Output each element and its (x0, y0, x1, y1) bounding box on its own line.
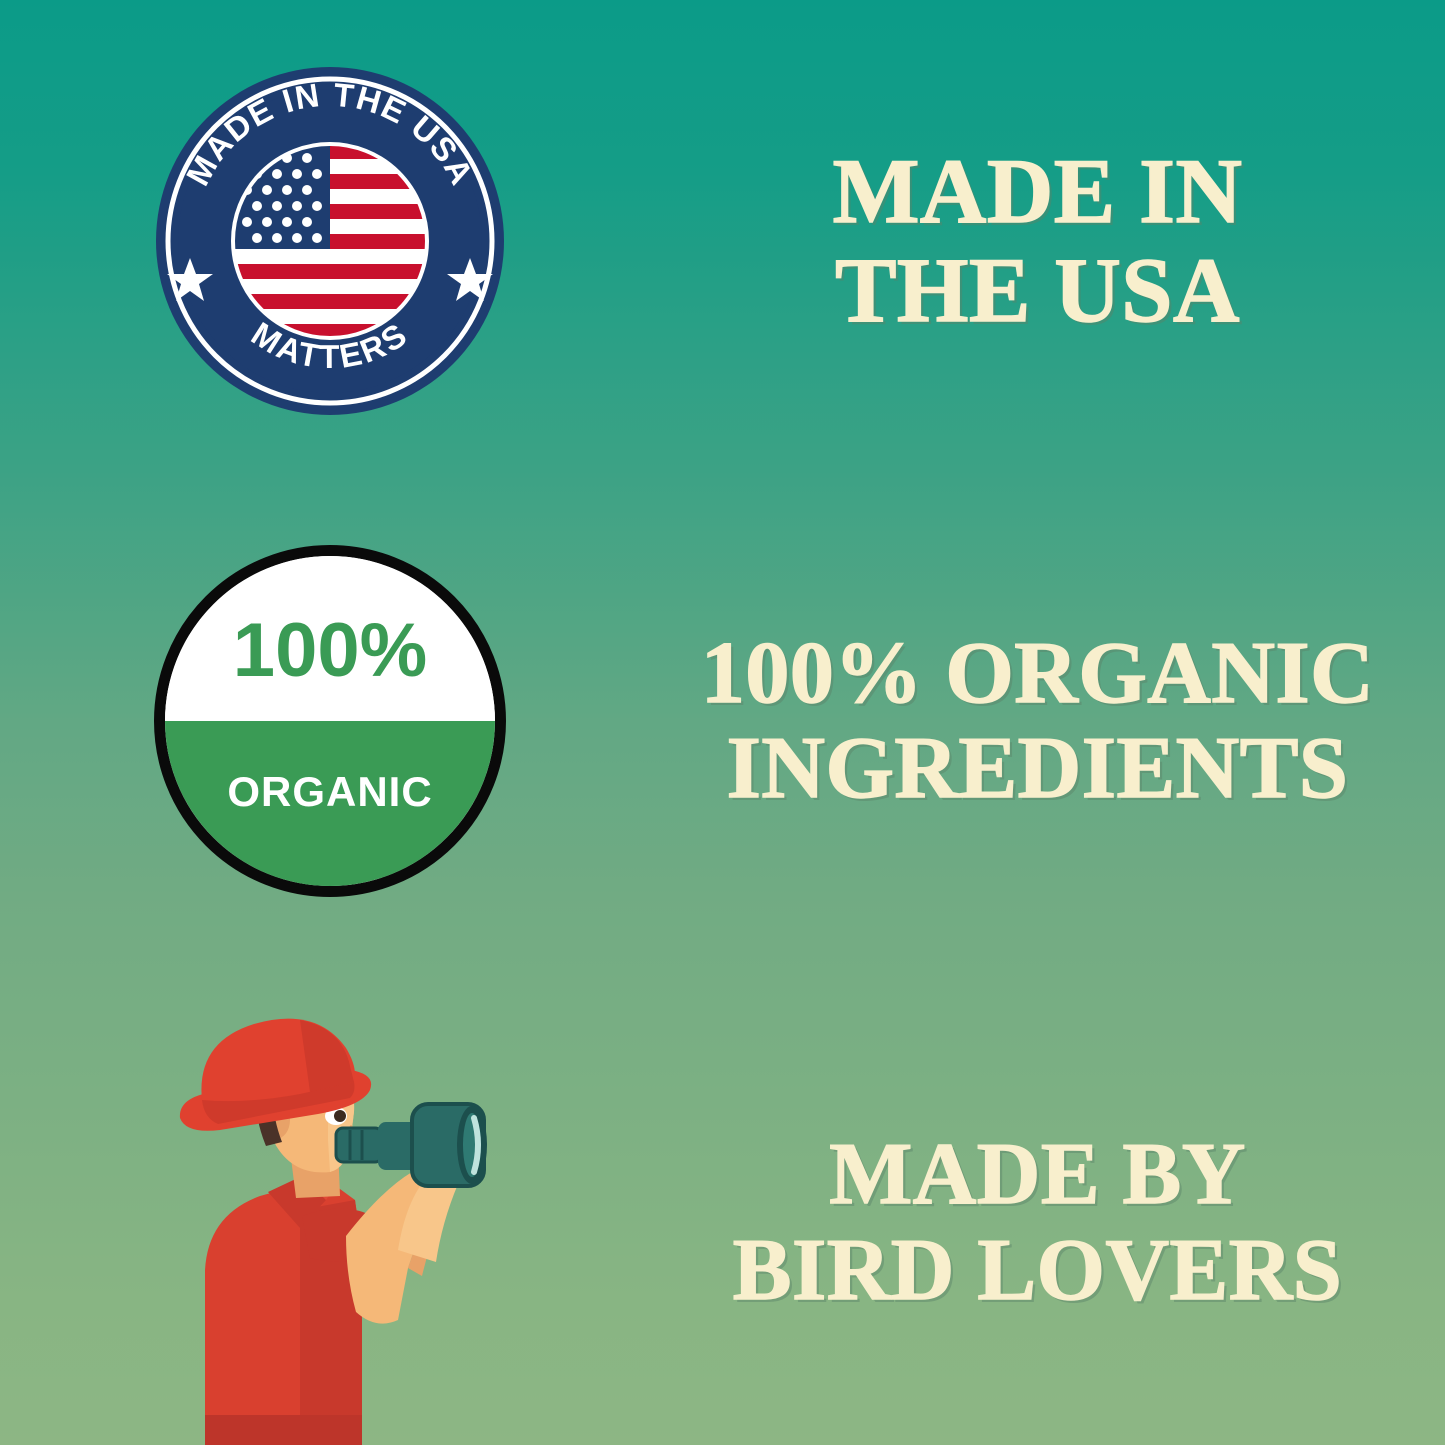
promo-poster: MADE IN THE USA MATTERS MADE IN THE USA (0, 0, 1445, 1445)
organic-word-label: ORGANIC (227, 771, 432, 813)
feature-row-made-in-usa: MADE IN THE USA MATTERS MADE IN THE USA (0, 66, 1445, 416)
headline-line: MADE BY (733, 1127, 1342, 1222)
headline-organic-ingredients: 100% ORGANIC INGREDIENTS (701, 626, 1374, 816)
feature-row-organic: 100% ORGANIC 100% ORGANIC INGREDIENTS (0, 545, 1445, 897)
birdwatcher-icon (150, 1000, 510, 1445)
made-in-usa-headline-container: MADE IN THE USA (660, 142, 1445, 341)
organic-seal-bottom-half: ORGANIC (165, 721, 495, 886)
made-in-usa-badge-container: MADE IN THE USA MATTERS (0, 66, 660, 416)
organic-seal-icon: 100% ORGANIC (154, 545, 506, 897)
headline-line: INGREDIENTS (701, 721, 1374, 816)
headline-line: MADE IN (833, 142, 1243, 241)
feature-row-bird-lovers: MADE BY BIRD LOVERS (0, 1000, 1445, 1445)
organic-percent-label: 100% (233, 613, 427, 689)
headline-line: BIRD LOVERS (733, 1223, 1342, 1318)
headline-bird-lovers: MADE BY BIRD LOVERS (733, 1127, 1342, 1317)
bird-lovers-headline-container: MADE BY BIRD LOVERS (660, 1127, 1445, 1317)
organic-badge-container: 100% ORGANIC (0, 545, 660, 897)
organic-seal-top-half: 100% (165, 556, 495, 721)
birdwatcher-illustration-container (0, 1000, 660, 1445)
headline-made-in-usa: MADE IN THE USA (833, 142, 1243, 341)
made-in-usa-seal-icon: MADE IN THE USA MATTERS (155, 66, 505, 416)
headline-line: 100% ORGANIC (701, 626, 1374, 721)
headline-line: THE USA (833, 241, 1243, 340)
organic-headline-container: 100% ORGANIC INGREDIENTS (660, 626, 1445, 816)
